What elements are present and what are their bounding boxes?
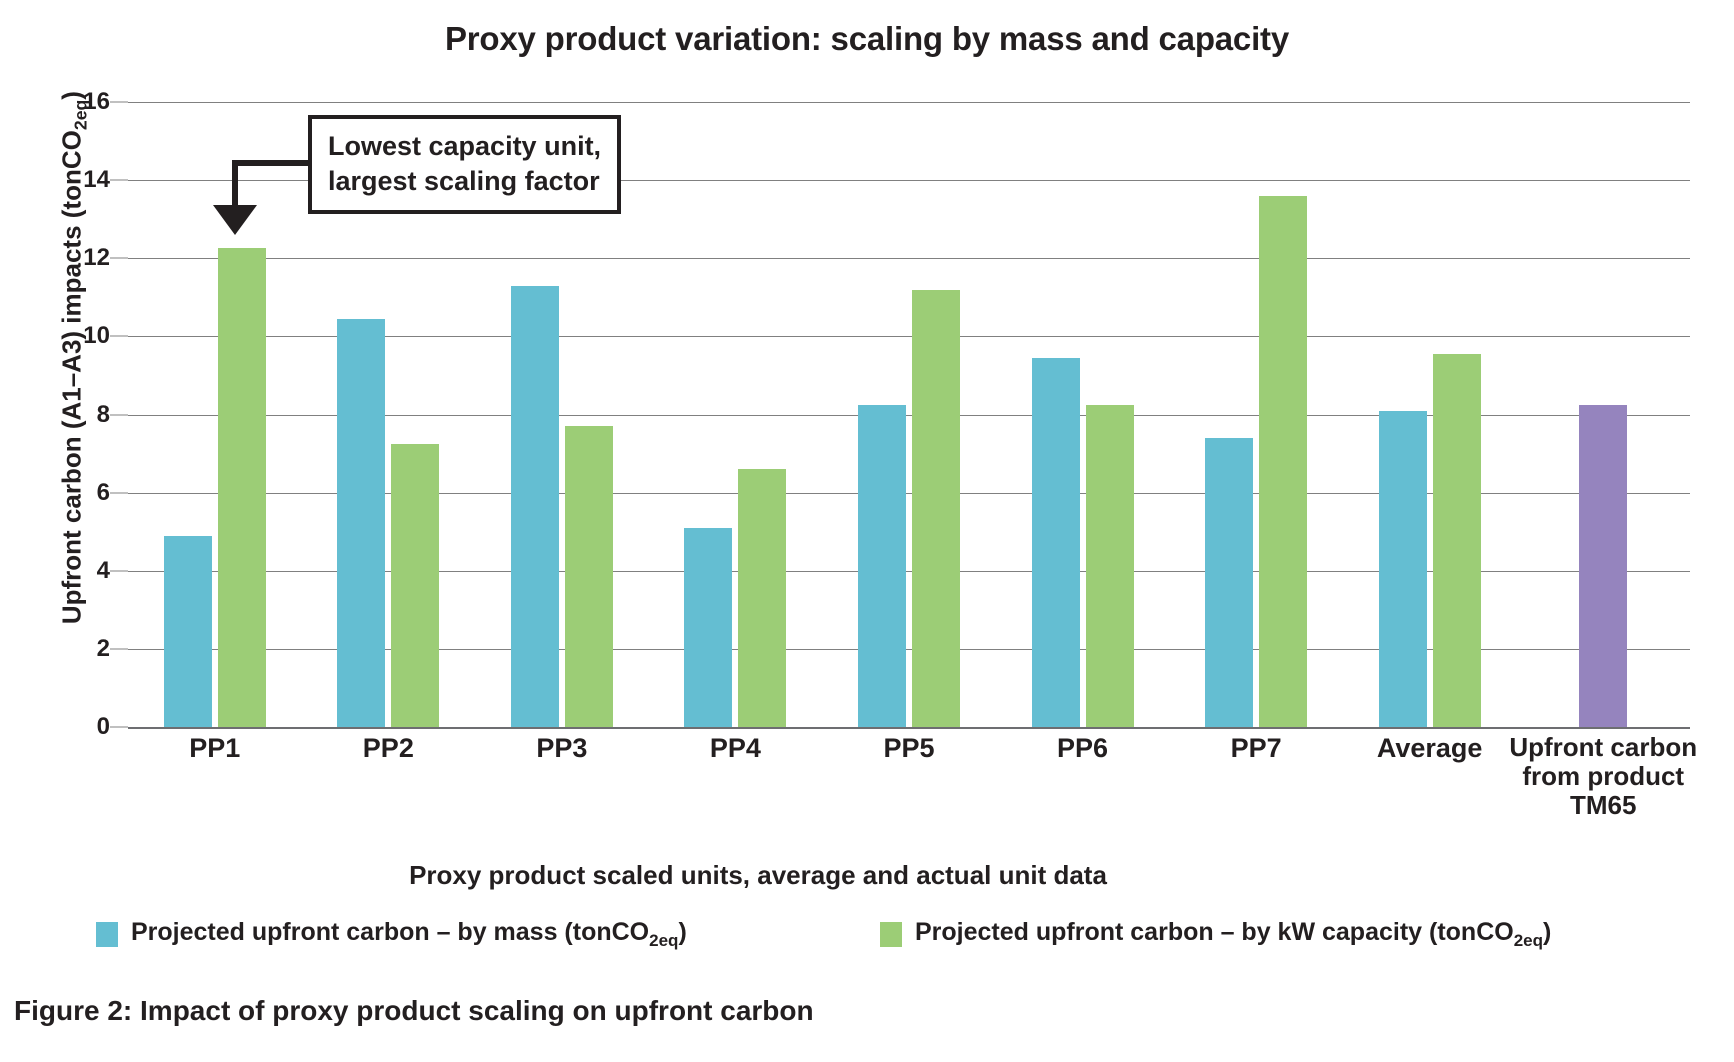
bar-average-mass[interactable] <box>1379 411 1427 727</box>
bar-pp5-cap[interactable] <box>912 290 960 728</box>
y-tick-mark-10 <box>110 336 128 337</box>
figure-caption-label: Figure 2: <box>14 995 132 1026</box>
legend-item-cap[interactable]: Projected upfront carbon – by kW capacit… <box>880 918 1551 951</box>
y-tick-mark-12 <box>110 258 128 259</box>
x-tick-label-pp2: PP2 <box>290 733 488 763</box>
y-tick-mark-2 <box>110 648 128 649</box>
annotation-connector-horizontal <box>232 160 312 166</box>
x-tick-label-pp3: PP3 <box>463 733 661 763</box>
bar-group <box>1516 102 1690 727</box>
legend-swatch-cap <box>880 922 902 947</box>
annotation-arrow-icon <box>213 205 257 235</box>
annotation-connector-vertical <box>232 160 238 210</box>
bar-group <box>822 102 996 727</box>
figure-container: Proxy product variation: scaling by mass… <box>0 0 1734 1062</box>
y-tick-mark-8 <box>110 414 128 415</box>
x-tick-label-pp4: PP4 <box>637 733 835 763</box>
x-axis-labels: PP1PP2PP3PP4PP5PP6PP7AverageUpfront carb… <box>128 733 1690 828</box>
bar-pp6-mass[interactable] <box>1032 358 1080 727</box>
legend-swatch-mass <box>96 922 118 947</box>
y-tick-label-6: 6 <box>97 479 110 507</box>
x-tick-label-pp5: PP5 <box>810 733 1008 763</box>
bar-group <box>128 102 302 727</box>
legend-item-mass[interactable]: Projected upfront carbon – by mass (tonC… <box>96 918 687 951</box>
chart-legend: Projected upfront carbon – by mass (tonC… <box>0 918 1734 968</box>
y-tick-label-0: 0 <box>97 713 110 741</box>
y-tick-label-2: 2 <box>97 635 110 663</box>
y-axis-title-text: Upfront carbon (A1–A3) impacts (tonCO <box>56 130 86 624</box>
x-tick-label-upfront-carbon-from-product-tm65: Upfront carbon from product TM65 <box>1496 733 1710 820</box>
bar-pp2-cap[interactable] <box>391 444 439 727</box>
bar-upfront-carbon-from-product-tm65-actual[interactable] <box>1579 405 1627 727</box>
bar-group <box>996 102 1170 727</box>
y-tick-mark-4 <box>110 570 128 571</box>
bar-pp4-cap[interactable] <box>738 469 786 727</box>
y-tick-label-4: 4 <box>97 557 110 585</box>
figure-caption-text: Impact of proxy product scaling on upfro… <box>132 995 813 1026</box>
figure-caption: Figure 2: Impact of proxy product scalin… <box>14 995 814 1027</box>
y-axis-title: Upfront carbon (A1–A3) impacts (tonCO2eq… <box>56 48 91 668</box>
y-axis-title-close: ) <box>56 91 86 100</box>
gridline-0 <box>128 727 1690 729</box>
bar-pp3-mass[interactable] <box>511 286 559 727</box>
bar-pp1-cap[interactable] <box>218 248 266 727</box>
y-axis-title-subscript: 2eq <box>71 100 91 130</box>
chart-title: Proxy product variation: scaling by mass… <box>0 20 1734 58</box>
bar-pp4-mass[interactable] <box>684 528 732 727</box>
bar-pp5-mass[interactable] <box>858 405 906 727</box>
bar-group <box>649 102 823 727</box>
y-tick-mark-0 <box>110 727 128 728</box>
bar-pp2-mass[interactable] <box>337 319 385 727</box>
bar-group <box>1343 102 1517 727</box>
bar-pp6-cap[interactable] <box>1086 405 1134 727</box>
annotation-callout: Lowest capacity unit, largest scaling fa… <box>308 115 621 214</box>
bar-group <box>1169 102 1343 727</box>
y-tick-mark-14 <box>110 180 128 181</box>
y-tick-label-8: 8 <box>97 401 110 429</box>
x-axis-title: Proxy product scaled units, average and … <box>128 860 1388 891</box>
y-tick-mark-16 <box>110 102 128 103</box>
bar-pp7-mass[interactable] <box>1205 438 1253 727</box>
x-tick-label-pp7: PP7 <box>1157 733 1355 763</box>
y-tick-mark-6 <box>110 492 128 493</box>
bar-pp1-mass[interactable] <box>164 536 212 727</box>
legend-label-mass: Projected upfront carbon – by mass (tonC… <box>131 918 687 951</box>
bar-pp3-cap[interactable] <box>565 426 613 727</box>
x-tick-label-pp1: PP1 <box>116 733 314 763</box>
x-tick-label-pp6: PP6 <box>984 733 1182 763</box>
bar-pp7-cap[interactable] <box>1259 196 1307 727</box>
bar-average-cap[interactable] <box>1433 354 1481 727</box>
legend-label-cap: Projected upfront carbon – by kW capacit… <box>915 918 1551 951</box>
